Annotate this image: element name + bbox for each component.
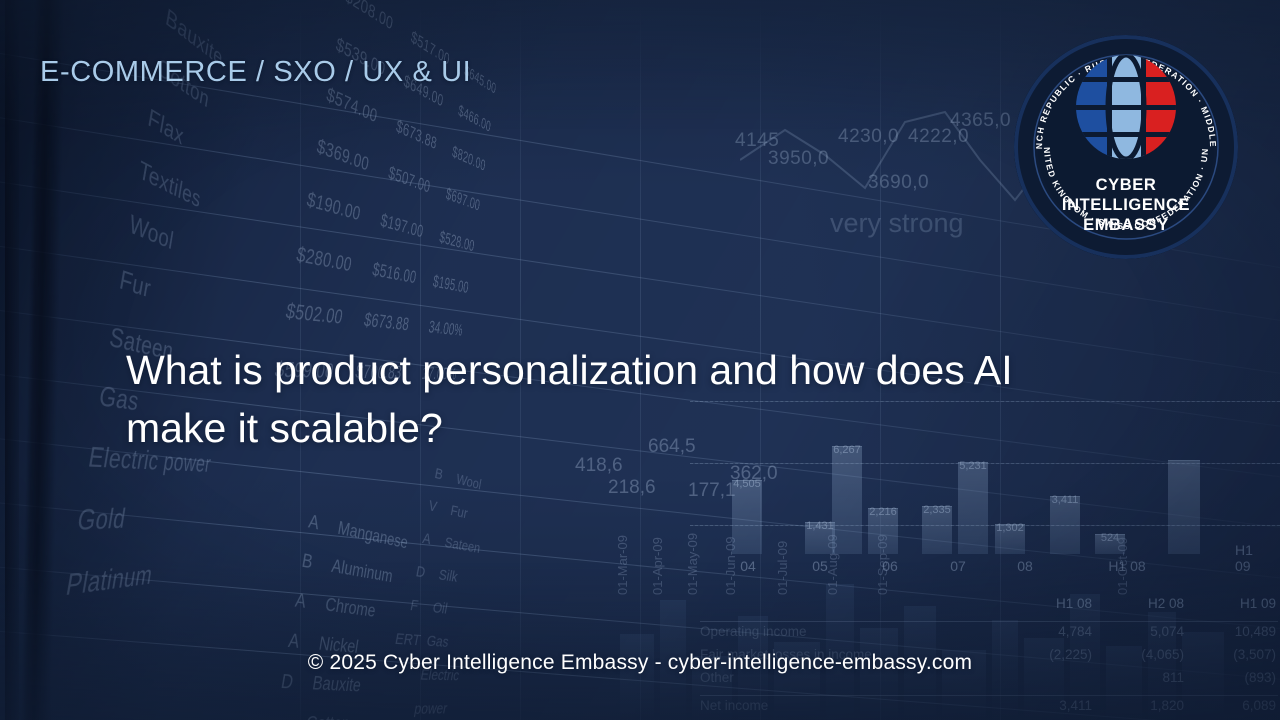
bar-value: 4,505 <box>733 478 761 490</box>
mid-chart-value: 418,6 <box>575 455 623 477</box>
slide-canvas: Bauxite Cotton Flax Textiles Wool Fur Sa… <box>0 0 1280 720</box>
line-chart-value: 4230,0 <box>838 126 899 148</box>
bg-price-cell: $195.00 <box>422 257 472 309</box>
mid-chart-value: 218,6 <box>608 477 656 499</box>
bg-grade-cell: B <box>286 539 327 584</box>
bar-value: 2,335 <box>923 504 951 516</box>
bar-value: 3,411 <box>1052 494 1079 506</box>
bar-value: 1,431 <box>806 520 834 532</box>
bg-grade-cell: V <box>418 487 448 525</box>
line-chart-annotation: very strong <box>830 208 964 239</box>
bar-axis-tick: 06 <box>882 558 898 574</box>
bg-grade-cell: A <box>411 520 441 557</box>
fin-cell: 1,820 <box>1092 698 1184 713</box>
footer-copyright: © 2025 Cyber Intelligence Embassy - cybe… <box>0 651 1280 675</box>
bar <box>832 446 862 554</box>
bar-axis-tick: 05 <box>812 558 828 574</box>
logo-badge: EUROPEAN UNION · FRENCH REPUBLIC · RUSSI… <box>1012 33 1240 261</box>
bg-grade-cell: A <box>280 580 321 625</box>
bar-axis-tick: H1 08 <box>1108 558 1145 574</box>
building-pillar-edge <box>5 0 19 720</box>
bar-value: 1,302 <box>996 522 1024 534</box>
bg-commodity-label: Platinum <box>61 539 245 618</box>
building-pillar <box>20 0 65 720</box>
fin-row-label: Operating income <box>700 624 1000 639</box>
bar-axis-tick: 07 <box>950 558 966 574</box>
fin-cell: 3,411 <box>1000 698 1092 713</box>
fin-cell: 5,074 <box>1092 624 1184 639</box>
fin-cell: 4,784 <box>1000 624 1092 639</box>
fin-cell: 10,489 <box>1184 624 1276 639</box>
bar <box>732 480 762 554</box>
fin-row-label: Net income <box>700 698 1000 713</box>
bg-grade-cell: B <box>424 455 453 493</box>
bg-grade-cell: A <box>293 500 333 546</box>
line-chart-value: 4222,0 <box>908 126 969 148</box>
line-chart-value: 3690,0 <box>868 172 929 194</box>
fin-cell: 6,089 <box>1184 698 1276 713</box>
bar <box>1168 460 1200 554</box>
bar-axis-tick: 04 <box>740 558 756 574</box>
date-tick: 01-Apr-09 <box>650 537 665 595</box>
page-title: What is product personalization and how … <box>126 341 1066 457</box>
fin-col-header: H1 08 <box>1000 596 1092 611</box>
line-chart-value: 3950,0 <box>768 148 829 170</box>
bar <box>958 462 988 554</box>
bg-material-cell: Oil <box>430 591 501 630</box>
logo-wordmark-line-3: EMBASSY <box>1012 215 1240 235</box>
logo-wordmark-line-2: INTELLIGENCE <box>1012 195 1240 215</box>
fin-col-header: H2 08 <box>1092 596 1184 611</box>
bar-value: 5,231 <box>959 460 987 472</box>
bar-axis-tick: 08 <box>1017 558 1033 574</box>
bar-value: 524 <box>1101 532 1119 544</box>
date-tick: 01-Mar-09 <box>615 535 630 595</box>
logo-wordmark: CYBER INTELLIGENCE EMBASSY <box>1012 175 1240 235</box>
bg-grade-cell: D <box>405 554 436 591</box>
bar-value: 2,216 <box>869 506 897 518</box>
bar-axis-tick: H1 09 <box>1235 542 1265 574</box>
page-eyebrow: E-COMMERCE / SXO / UX & UI <box>40 56 471 89</box>
bg-grade-cell: F <box>398 587 429 623</box>
logo-wordmark-line-1: CYBER <box>1012 175 1240 195</box>
bg-price-cell: $502.00 <box>267 281 347 344</box>
fin-col-header: H1 09 <box>1184 596 1276 611</box>
